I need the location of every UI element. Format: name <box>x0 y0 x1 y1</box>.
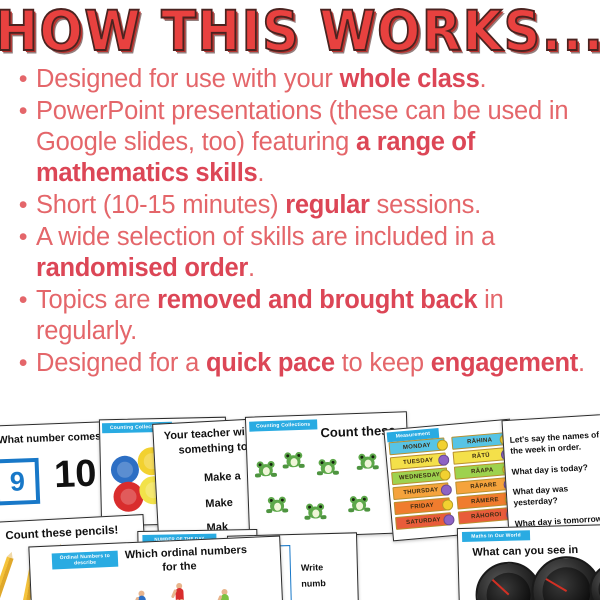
thumbnail-ordinal-numbers[interactable]: Ordinal Numbers to describe Which ordina… <box>28 536 283 600</box>
thumb-days-line-4: What day was <box>513 483 569 496</box>
bullet-run: . <box>479 65 486 93</box>
thumb-line-teacher-1: Your teacher wi <box>163 426 245 442</box>
frog-icon <box>255 461 276 478</box>
bullet-marker-icon: • <box>12 64 34 94</box>
day-label-en: SATURDAY <box>395 512 452 530</box>
day-face-icon <box>438 454 450 466</box>
day-face-icon <box>443 514 455 526</box>
runner-icon <box>171 583 190 600</box>
thumb-line-make-2: Make <box>205 497 233 510</box>
bullet-emphasis: quick pace <box>206 349 335 377</box>
runner-icon <box>133 590 152 600</box>
thumbnail-maths-in-our-world[interactable]: Maths In Our World What can you see in <box>457 524 600 600</box>
bullet-marker-icon: • <box>12 285 34 315</box>
bullet-text: Designed for use with your whole class. <box>36 64 590 95</box>
number-box-9: 9 <box>0 458 40 506</box>
bullet-item: •Short (10-15 minutes) regular sessions. <box>12 190 590 221</box>
bullet-emphasis: removed and brought back <box>157 286 477 314</box>
bullet-emphasis: engagement <box>431 349 578 377</box>
bullet-marker-icon: • <box>12 190 34 220</box>
bullet-marker-icon: • <box>12 348 34 378</box>
frog-icon <box>283 452 304 469</box>
buttons-group <box>100 418 225 421</box>
thumb-question-ordinal-2: for the <box>162 560 197 573</box>
bullet-run: Designed for use with your <box>36 65 340 93</box>
bullet-marker-icon: • <box>12 96 34 126</box>
thumb-question-ordinal-1: Which ordinal numbers <box>125 544 248 561</box>
thumb-side-text-write: Write <box>301 562 324 573</box>
bullet-item: •A wide selection of skills are included… <box>12 222 590 284</box>
thumb-days-line-5: yesterday? <box>513 495 558 508</box>
day-face-icon <box>440 484 452 496</box>
bullet-run: . <box>257 159 264 187</box>
bullet-emphasis: regular <box>285 191 369 219</box>
presentation-slide: HOW THIS WORKS... •Designed for use with… <box>0 0 600 600</box>
thumbnail-days-questions[interactable]: Let's say the names of the week in order… <box>501 412 600 540</box>
slide-title-container: HOW THIS WORKS... <box>0 2 600 60</box>
button-blue <box>111 456 140 485</box>
day-face-icon <box>436 439 448 451</box>
thumb-days-line-3: What day is today? <box>511 462 588 477</box>
day-face-icon <box>439 469 451 481</box>
bullet-text: Designed for a quick pace to keep engage… <box>36 348 590 379</box>
bullet-text: PowerPoint presentations (these can be u… <box>36 96 590 189</box>
bullet-run: sessions. <box>370 191 481 219</box>
thumb-tag-counting-collections-frogs: Counting Collections <box>249 419 317 431</box>
frog-icon <box>305 503 326 520</box>
thumb-line-teacher-2: something to <box>178 441 248 457</box>
bullet-item: •Designed for a quick pace to keep engag… <box>12 348 590 379</box>
bullet-run: to keep <box>335 349 431 377</box>
thumb-question-count-pencils: Count these pencils! <box>5 524 119 542</box>
bullet-emphasis: randomised order <box>36 254 248 282</box>
bullet-item: •Topics are removed and brought back in … <box>12 285 590 347</box>
feature-bullet-list: •Designed for use with your whole class.… <box>12 64 590 380</box>
bullet-item: •PowerPoint presentations (these can be … <box>12 96 590 189</box>
thumb-tag-maths-in-our-world: Maths In Our World <box>462 530 530 542</box>
bullet-run: A wide selection of skills are included … <box>36 223 495 251</box>
frog-icon <box>357 453 378 470</box>
bullet-item: •Designed for use with your whole class. <box>12 64 590 95</box>
runner-icon <box>216 589 235 600</box>
bullet-run: PowerPoint presentations (these can be u… <box>36 97 568 156</box>
number-10: 10 <box>53 453 97 498</box>
thumb-side-text-numb: numb <box>301 578 326 589</box>
bullet-run: Designed for a <box>36 349 206 377</box>
bullet-marker-icon: • <box>12 222 34 252</box>
frog-icon <box>267 496 288 513</box>
bullet-emphasis: whole class <box>340 65 480 93</box>
bullet-run: Short (10-15 minutes) <box>36 191 285 219</box>
bullet-run: . <box>578 349 585 377</box>
thumb-tag-ordinal-numbers: Ordinal Numbers to describe <box>52 551 119 570</box>
day-face-icon <box>442 499 454 511</box>
frog-icon <box>349 496 370 513</box>
pencil-icon <box>0 557 14 600</box>
thumb-line-make-1: Make a <box>204 470 241 484</box>
bullet-text: Topics are removed and brought back in r… <box>36 285 590 347</box>
bullet-text: A wide selection of skills are included … <box>36 222 590 284</box>
frog-group <box>246 412 406 418</box>
thumbnail-days-of-week[interactable]: Measurement MONDAYRĀHINATUESDAYRĀTŪWEDNE… <box>383 419 519 542</box>
frog-icon <box>317 459 338 476</box>
page-title: HOW THIS WORKS... <box>0 0 600 63</box>
bullet-run: Topics are <box>36 286 157 314</box>
bullet-text: Short (10-15 minutes) regular sessions. <box>36 190 590 221</box>
slide-thumbnail-collage: What number comes before 9 10 Counting C… <box>0 408 600 600</box>
bullet-run: . <box>248 254 255 282</box>
